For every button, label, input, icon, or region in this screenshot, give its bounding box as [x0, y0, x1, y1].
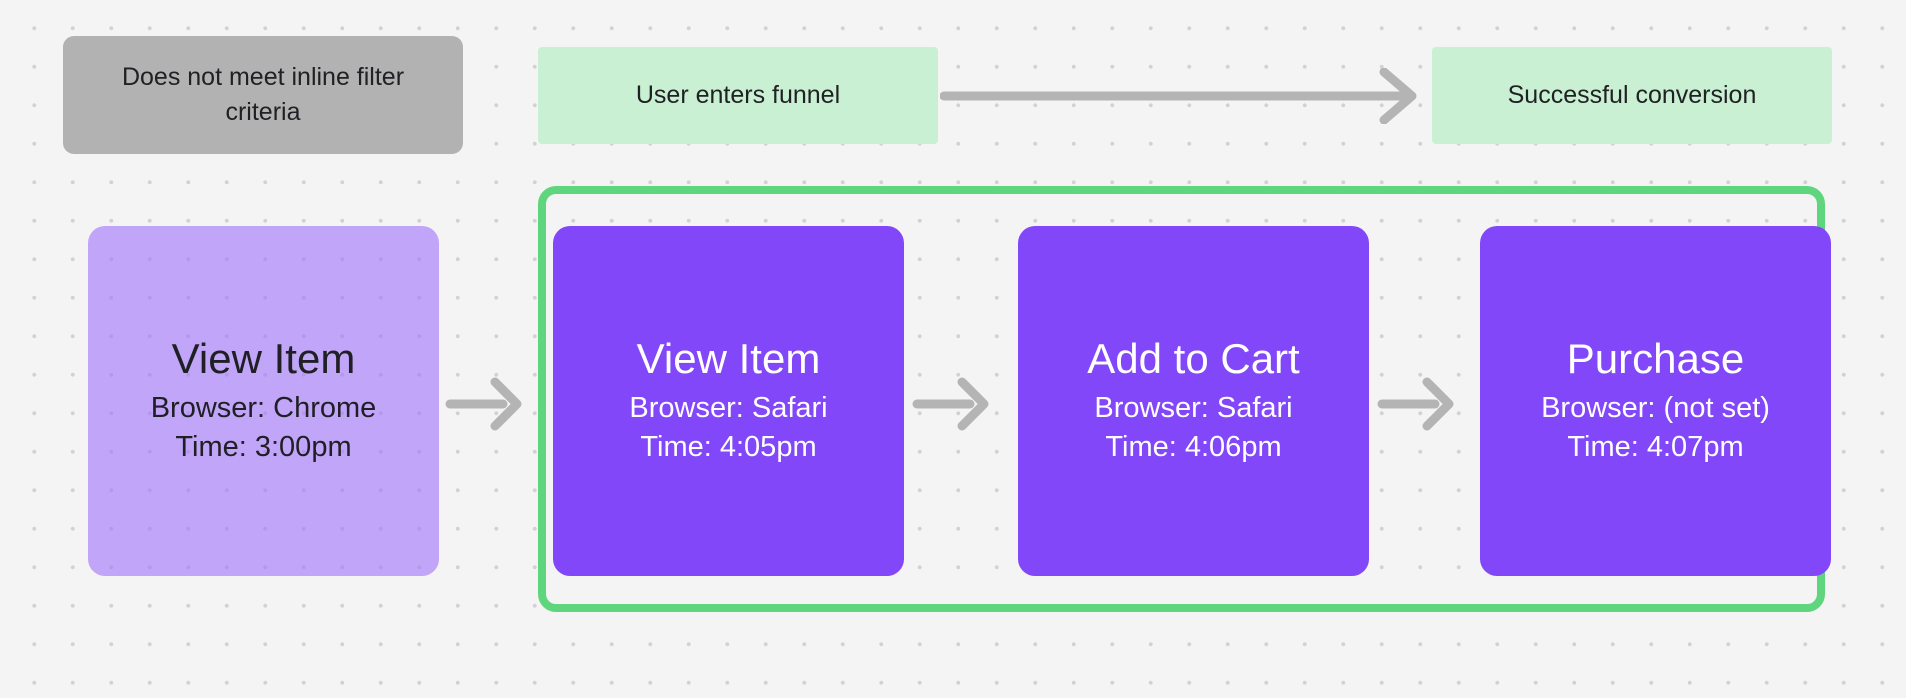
event-card-time: Time: 4:07pm: [1567, 428, 1743, 467]
event-card-browser: Browser: (not set): [1541, 389, 1770, 428]
step-arrow-icon: [445, 376, 527, 432]
diagram-canvas: Does not meet inline filter criteria Use…: [0, 0, 1906, 698]
event-card[interactable]: Add to Cart Browser: Safari Time: 4:06pm: [1018, 226, 1369, 576]
event-card-browser: Browser: Safari: [1094, 389, 1292, 428]
event-card[interactable]: View Item Browser: Chrome Time: 3:00pm: [88, 226, 439, 576]
legend-flow-arrow-icon: [940, 68, 1432, 124]
event-card[interactable]: Purchase Browser: (not set) Time: 4:07pm: [1480, 226, 1831, 576]
event-card-time: Time: 4:06pm: [1105, 428, 1281, 467]
legend-successful-conversion-label: Successful conversion: [1508, 78, 1757, 114]
legend-excluded-box: Does not meet inline filter criteria: [63, 36, 463, 154]
legend-enters-funnel-label: User enters funnel: [636, 78, 840, 114]
step-arrow-icon: [912, 376, 994, 432]
event-card-title: Purchase: [1567, 335, 1744, 382]
legend-excluded-label: Does not meet inline filter criteria: [89, 60, 437, 131]
legend-successful-conversion-box: Successful conversion: [1432, 47, 1832, 144]
event-card-title: View Item: [172, 335, 356, 382]
event-card[interactable]: View Item Browser: Safari Time: 4:05pm: [553, 226, 904, 576]
event-card-browser: Browser: Safari: [629, 389, 827, 428]
event-card-title: View Item: [637, 335, 821, 382]
event-card-browser: Browser: Chrome: [151, 389, 377, 428]
legend-enters-funnel-box: User enters funnel: [538, 47, 938, 144]
step-arrow-icon: [1377, 376, 1459, 432]
event-card-time: Time: 3:00pm: [175, 428, 351, 467]
event-card-time: Time: 4:05pm: [640, 428, 816, 467]
event-card-title: Add to Cart: [1087, 335, 1299, 382]
